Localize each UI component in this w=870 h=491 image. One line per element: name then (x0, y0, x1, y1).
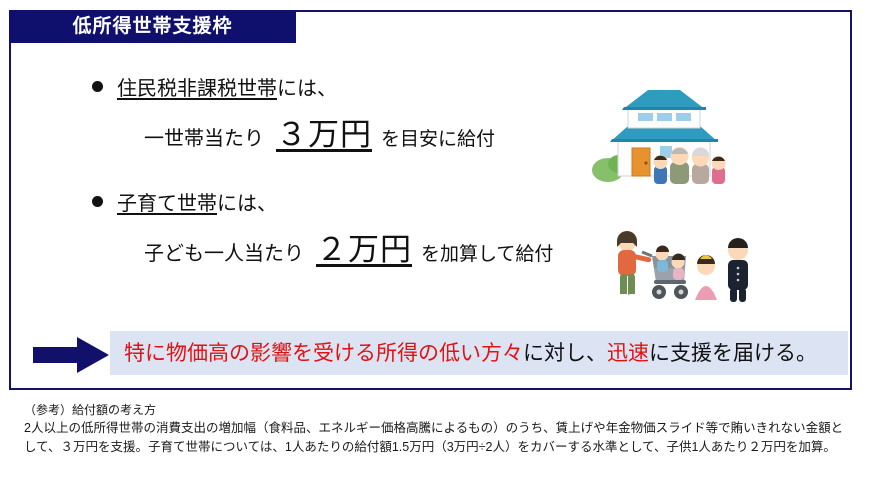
bullet-lead-underlined-2: 子育て世帯 (117, 193, 217, 215)
footnote-line-1: 2人以上の低所得世帯の消費支出の増加幅（食料品、エネルギー価格高騰によるもの）の… (24, 419, 854, 437)
bullet-lead-text-2: 子育て世帯には、 (117, 193, 277, 215)
child-rearing-family-illustration (596, 228, 756, 310)
bullet-dot-icon (92, 196, 103, 207)
footnote-block: （参考）給付額の考え方 2人以上の低所得世帯の消費支出の増加幅（食料品、エネルギ… (24, 402, 854, 456)
bullet-lead-underlined-1: 住民税非課税世帯 (117, 78, 277, 100)
bullet-amount-2: ２万円 (316, 233, 412, 267)
bullet-block-1: 住民税非課税世帯には、 一世帯当たり ３万円 を目安に給付 (92, 78, 495, 152)
key-message-banner: 特に物価高の影響を受ける所得の低い方々に対し、迅速に支援を届ける。 (110, 331, 848, 375)
bullet-detail-1: 一世帯当たり ３万円 を目安に給付 (144, 118, 495, 152)
slide-title-bar: 低所得世帯支援枠 (9, 10, 296, 43)
key-message-segment-4: に支援を届ける。 (649, 342, 817, 365)
bullet-detail-2: 子ども一人当たり ２万円 を加算して給付 (144, 233, 553, 267)
bullet-detail-suffix-1: を目安に給付 (381, 130, 495, 151)
key-message-segment-1: 特に物価高の影響を受ける所得の低い方々 (124, 342, 523, 365)
bullet-lead-1: 住民税非課税世帯には、 (92, 78, 495, 100)
bullet-lead-rest-1: には、 (277, 78, 337, 100)
bullet-detail-prefix-1: 一世帯当たり (144, 128, 264, 150)
bullet-detail-prefix-2: 子ども一人当たり (144, 243, 304, 265)
footnote-heading: （参考）給付額の考え方 (24, 402, 854, 419)
bullet-detail-suffix-2: を加算して給付 (421, 245, 553, 266)
bullet-amount-1: ３万円 (276, 118, 372, 152)
bullet-block-2: 子育て世帯には、 子ども一人当たり ２万円 を加算して給付 (92, 193, 553, 267)
key-message-segment-2: に対し、 (523, 342, 607, 365)
bullet-lead-rest-2: には、 (217, 193, 277, 215)
bullet-lead-text-1: 住民税非課税世帯には、 (117, 78, 337, 100)
right-arrow-icon (33, 336, 109, 374)
key-message-text: 特に物価高の影響を受ける所得の低い方々に対し、迅速に支援を届ける。 (124, 343, 817, 364)
footnote-line-2: して、３万円を支援。子育て世帯については、1人あたりの給付額1.5万円（3万円÷… (24, 438, 854, 456)
bullet-lead-2: 子育て世帯には、 (92, 193, 553, 215)
page-title: 低所得世帯支援枠 (72, 17, 232, 36)
key-message-segment-3: 迅速 (607, 342, 649, 365)
house-with-family-illustration (588, 78, 738, 193)
bullet-dot-icon (92, 81, 103, 92)
